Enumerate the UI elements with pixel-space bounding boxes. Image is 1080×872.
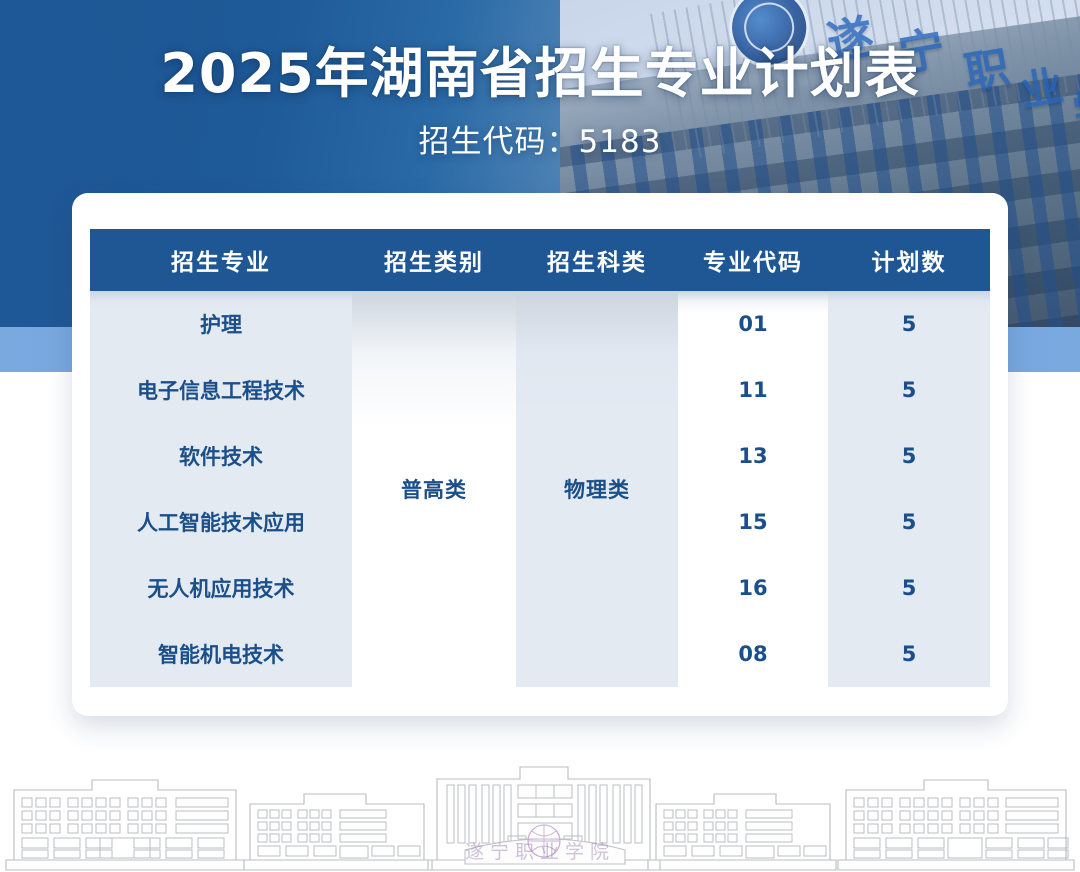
school-watermark: 遂宁职业学院: [0, 837, 1080, 864]
col-header-category: 招生类别: [352, 229, 516, 291]
cell-code: 11: [678, 357, 828, 423]
col-header-subject: 招生科类: [516, 229, 678, 291]
cell-subject-merged: 物理类: [516, 291, 678, 687]
table-row: 护理 普高类 物理类 01 5: [90, 291, 990, 357]
cell-major: 智能机电技术: [90, 621, 352, 687]
table-header: 招生专业 招生类别 招生科类 专业代码 计划数: [90, 229, 990, 291]
cell-major: 电子信息工程技术: [90, 357, 352, 423]
admission-plan-table: 招生专业 招生类别 招生科类 专业代码 计划数 护理 普高类 物理类 01 5 …: [90, 229, 990, 687]
admission-code-line: 招生代码：5183: [0, 116, 1080, 161]
cell-code: 16: [678, 555, 828, 621]
cell-code: 15: [678, 489, 828, 555]
table-body: 护理 普高类 物理类 01 5 电子信息工程技术 11 5 软件技术 13 5: [90, 291, 990, 687]
cell-major: 无人机应用技术: [90, 555, 352, 621]
cell-plan: 5: [828, 489, 990, 555]
cell-code: 08: [678, 621, 828, 687]
table-header-row: 招生专业 招生类别 招生科类 专业代码 计划数: [90, 229, 990, 291]
cell-category-merged: 普高类: [352, 291, 516, 687]
page-title: 2025年湖南省招生专业计划表: [0, 44, 1080, 104]
col-header-major: 招生专业: [90, 229, 352, 291]
cell-plan: 5: [828, 291, 990, 357]
cell-plan: 5: [828, 621, 990, 687]
plan-table-card: 招生专业 招生类别 招生科类 专业代码 计划数 护理 普高类 物理类 01 5 …: [72, 193, 1008, 716]
cell-plan: 5: [828, 357, 990, 423]
cell-major: 软件技术: [90, 423, 352, 489]
cell-code: 13: [678, 423, 828, 489]
title-block: 2025年湖南省招生专业计划表 招生代码：5183: [0, 44, 1080, 161]
col-header-plan: 计划数: [828, 229, 990, 291]
cell-plan: 5: [828, 423, 990, 489]
col-header-code: 专业代码: [678, 229, 828, 291]
poster-root: 遂 宁 职 业 学 院 2025年湖南省招生专业计划表 招生代码：5183 招生…: [0, 0, 1080, 872]
cell-code: 01: [678, 291, 828, 357]
cell-major: 护理: [90, 291, 352, 357]
cell-major: 人工智能技术应用: [90, 489, 352, 555]
cell-plan: 5: [828, 555, 990, 621]
